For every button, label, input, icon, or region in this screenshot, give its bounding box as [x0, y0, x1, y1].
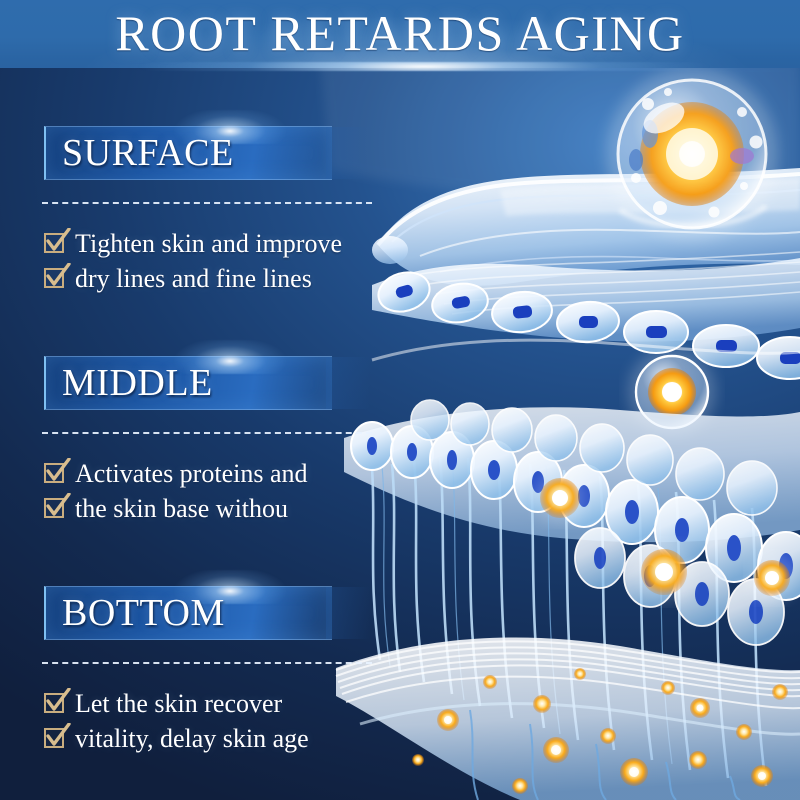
section-divider-middle — [42, 432, 372, 434]
label-wrap-middle: MIDDLE — [0, 356, 400, 414]
list-item-label: Let the skin recover — [75, 686, 282, 721]
list-item-label: Activates proteins and — [75, 456, 308, 491]
label-wrap-bottom: BOTTOM — [0, 586, 400, 644]
list-item: Tighten skin and improve — [44, 226, 394, 261]
checkbox-checked-icon — [44, 693, 66, 715]
section-middle: MIDDLE Activates proteins and the sk — [0, 356, 400, 414]
list-item-label: dry lines and fine lines — [75, 261, 312, 296]
list-item: Activates proteins and — [44, 456, 394, 491]
section-label-bottom: BOTTOM — [62, 588, 225, 638]
checkbox-checked-icon — [44, 463, 66, 485]
basal-membrane-layer — [336, 637, 800, 800]
checkbox-checked-icon — [44, 728, 66, 750]
checkbox-checked-icon — [44, 233, 66, 255]
sections-column: SURFACE Tighten skin and improve dry — [0, 0, 400, 800]
section-label-middle: MIDDLE — [62, 358, 213, 408]
poster-root: ROOT RETARDS AGING SURFACE Tighten skin … — [0, 0, 800, 800]
section-label-surface: SURFACE — [62, 128, 234, 178]
list-item: Let the skin recover — [44, 686, 394, 721]
list-item: the skin base withou — [44, 491, 394, 526]
list-item-label: Tighten skin and improve — [75, 226, 342, 261]
section-bottom: BOTTOM Let the skin recover vitality — [0, 586, 400, 644]
bullet-list-bottom: Let the skin recover vitality, delay ski… — [44, 686, 394, 756]
checkbox-checked-icon — [44, 498, 66, 520]
list-item: dry lines and fine lines — [44, 261, 394, 296]
section-surface: SURFACE Tighten skin and improve dry — [0, 126, 400, 184]
section-divider-bottom — [42, 662, 372, 664]
list-item: vitality, delay skin age — [44, 721, 394, 756]
checkbox-checked-icon — [44, 268, 66, 290]
list-item-label: the skin base withou — [75, 491, 288, 526]
label-wrap-surface: SURFACE — [0, 126, 400, 184]
section-divider-surface — [42, 202, 372, 204]
list-item-label: vitality, delay skin age — [75, 721, 309, 756]
bullet-list-surface: Tighten skin and improve dry lines and f… — [44, 226, 394, 296]
bullet-list-middle: Activates proteins and the skin base wit… — [44, 456, 394, 526]
